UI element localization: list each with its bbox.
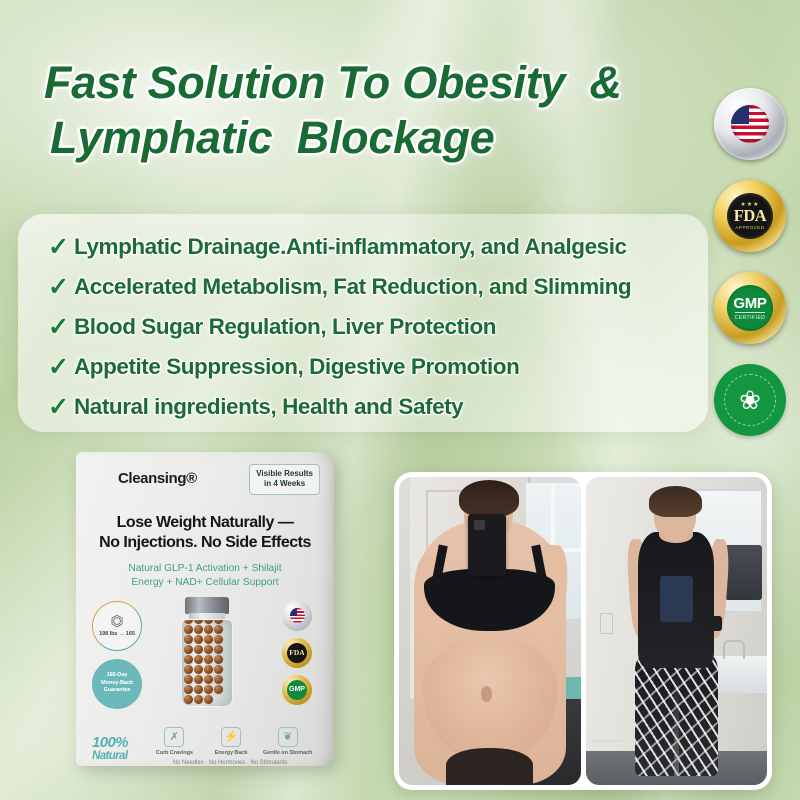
package-sub-line-1: Natural GLP-1 Activation + Shilajit xyxy=(90,562,320,576)
natural-badge: ❀ xyxy=(714,364,786,436)
faucet xyxy=(723,640,745,658)
weight-loss-label: 198 lbs → 165 xyxy=(99,631,135,637)
benefit-item: ✓ Natural ingredients, Health and Safety xyxy=(48,388,696,426)
supplement-bottle-image xyxy=(176,597,238,709)
usa-flag-icon xyxy=(731,105,769,143)
fda-approved-badge: ★★★ FDA APPROVED xyxy=(714,180,786,252)
briefs xyxy=(446,748,533,785)
benefit-item: ✓ Blood Sugar Regulation, Liver Protecti… xyxy=(48,308,696,346)
tagline-1: No Needles · No Hormones · No Stimulants xyxy=(140,760,320,766)
package-right-badges: FDA GMP xyxy=(282,601,318,712)
feature-label: Curb Cravings xyxy=(146,750,203,756)
headline-line-2: Lymphatic Blockage xyxy=(44,111,704,166)
made-in-usa-badge xyxy=(714,88,786,160)
fda-core: ★★★ FDA APPROVED xyxy=(727,193,773,239)
visible-results-badge: Visible Results in 4 Weeks xyxy=(249,464,320,495)
mini-fda-badge: FDA xyxy=(282,638,312,668)
package-headline-line-2: No Injections. No Side Effects xyxy=(90,533,320,553)
natural-claim-percent: 100% xyxy=(92,734,128,751)
money-back-badge: 180-Day Money-Back Guarantee xyxy=(92,659,142,709)
benefit-item: ✓ Appetite Suppression, Digestive Promot… xyxy=(48,348,696,386)
brand-name: Cleansing® xyxy=(118,470,197,487)
product-package: Cleansing® Visible Results in 4 Weeks Lo… xyxy=(76,452,334,766)
feature-icon-row: ✗ Curb Cravings ⚡ Energy Back ❦ Gentle o… xyxy=(146,727,320,756)
benefit-label: Blood Sugar Regulation, Liver Protection xyxy=(74,314,496,340)
energy-drop-icon: ⚡ xyxy=(221,727,241,747)
benefit-item: ✓ Accelerated Metabolism, Fat Reduction,… xyxy=(48,268,696,306)
mini-usa-badge xyxy=(282,601,312,631)
visible-results-line-1: Visible Results xyxy=(256,469,313,479)
benefit-label: Lymphatic Drainage.Anti-inflammatory, an… xyxy=(74,234,627,260)
wristwatch xyxy=(707,616,722,631)
money-back-line-3: Guarantee xyxy=(104,687,131,695)
natural-core: ❀ xyxy=(724,374,776,426)
package-footer: 100% Natural ✗ Curb Cravings ⚡ Energy Ba… xyxy=(90,727,320,766)
package-header: Cleansing® Visible Results in 4 Weeks xyxy=(90,464,320,495)
benefits-card: ✓ Lymphatic Drainage.Anti-inflammatory, … xyxy=(18,214,708,432)
crossed-utensils-icon: ✗ xyxy=(164,727,184,747)
benefit-label: Appetite Suppression, Digestive Promotio… xyxy=(74,354,519,380)
money-back-line-2: Money-Back xyxy=(101,680,133,688)
package-middle: ⏣ 198 lbs → 165 180-Day Money-Back Guara… xyxy=(90,597,320,725)
check-icon: ✓ xyxy=(48,355,74,380)
mini-fda-label: FDA xyxy=(287,643,307,663)
shield-leaf-icon: ❦ xyxy=(278,727,298,747)
gmp-certified-badge: GMP CERTIFIED xyxy=(714,272,786,344)
feature-item: ✗ Curb Cravings xyxy=(146,727,203,756)
package-sub-line-2: Energy + NAD+ Cellular Support xyxy=(90,576,320,590)
before-after-photos xyxy=(394,472,772,790)
check-icon: ✓ xyxy=(48,395,74,420)
package-taglines: No Needles · No Hormones · No Stimulants… xyxy=(140,760,320,766)
package-headline-line-1: Lose Weight Naturally — xyxy=(90,513,320,533)
feature-label: Gentle on Stomach xyxy=(259,750,316,756)
package-headline: Lose Weight Naturally — No Injections. N… xyxy=(90,513,320,554)
capsules xyxy=(182,630,232,706)
phone-icon xyxy=(468,514,506,576)
natural-claim-word: Natural xyxy=(92,750,128,762)
visible-results-line-2: in 4 Weeks xyxy=(256,479,313,489)
gmp-sub-label: CERTIFIED xyxy=(735,312,766,321)
check-icon: ✓ xyxy=(48,275,74,300)
fda-label: FDA xyxy=(734,208,766,225)
before-photo xyxy=(399,477,581,785)
bottle-cap xyxy=(185,597,229,614)
benefit-label: Accelerated Metabolism, Fat Reduction, a… xyxy=(74,274,631,300)
hair xyxy=(459,480,519,517)
benefit-item: ✓ Lymphatic Drainage.Anti-inflammatory, … xyxy=(48,228,696,266)
feature-item: ⚡ Energy Back xyxy=(203,727,260,756)
package-subheadline: Natural GLP-1 Activation + Shilajit Ener… xyxy=(90,562,320,591)
leaf-icon: ❀ xyxy=(739,387,761,413)
paper-dispenser xyxy=(725,545,761,600)
gmp-core: GMP CERTIFIED xyxy=(727,285,773,331)
hair xyxy=(649,486,702,517)
phone-icon xyxy=(660,576,693,622)
weight-loss-badge: ⏣ 198 lbs → 165 xyxy=(92,601,142,651)
feature-item: ❦ Gentle on Stomach xyxy=(259,727,316,756)
benefit-label: Natural ingredients, Health and Safety xyxy=(74,394,463,420)
after-photo xyxy=(586,477,768,785)
feature-label: Energy Back xyxy=(203,750,260,756)
wall-outlet xyxy=(600,613,613,635)
check-icon: ✓ xyxy=(48,235,74,260)
waist-measure-icon: ⏣ xyxy=(110,614,123,629)
cord xyxy=(591,733,631,742)
package-left-badges: ⏣ 198 lbs → 165 180-Day Money-Back Guara… xyxy=(92,601,146,709)
headline-line-1: Fast Solution To Obesity & xyxy=(44,56,704,111)
navel xyxy=(481,686,492,701)
page-title: Fast Solution To Obesity & Lymphatic Blo… xyxy=(44,56,704,166)
leg-gap xyxy=(674,671,679,776)
natural-claim: 100% Natural xyxy=(92,735,128,763)
money-back-line-1: 180-Day xyxy=(107,672,128,680)
mini-gmp-label: GMP xyxy=(287,680,307,700)
gmp-label: GMP xyxy=(733,296,766,311)
usa-flag-icon xyxy=(290,608,305,623)
bottle-body xyxy=(181,619,233,707)
mini-gmp-badge: GMP xyxy=(282,675,312,705)
fda-sub-label: APPROVED xyxy=(735,225,764,230)
trust-badge-column: ★★★ FDA APPROVED GMP CERTIFIED ❀ xyxy=(708,88,792,456)
check-icon: ✓ xyxy=(48,315,74,340)
